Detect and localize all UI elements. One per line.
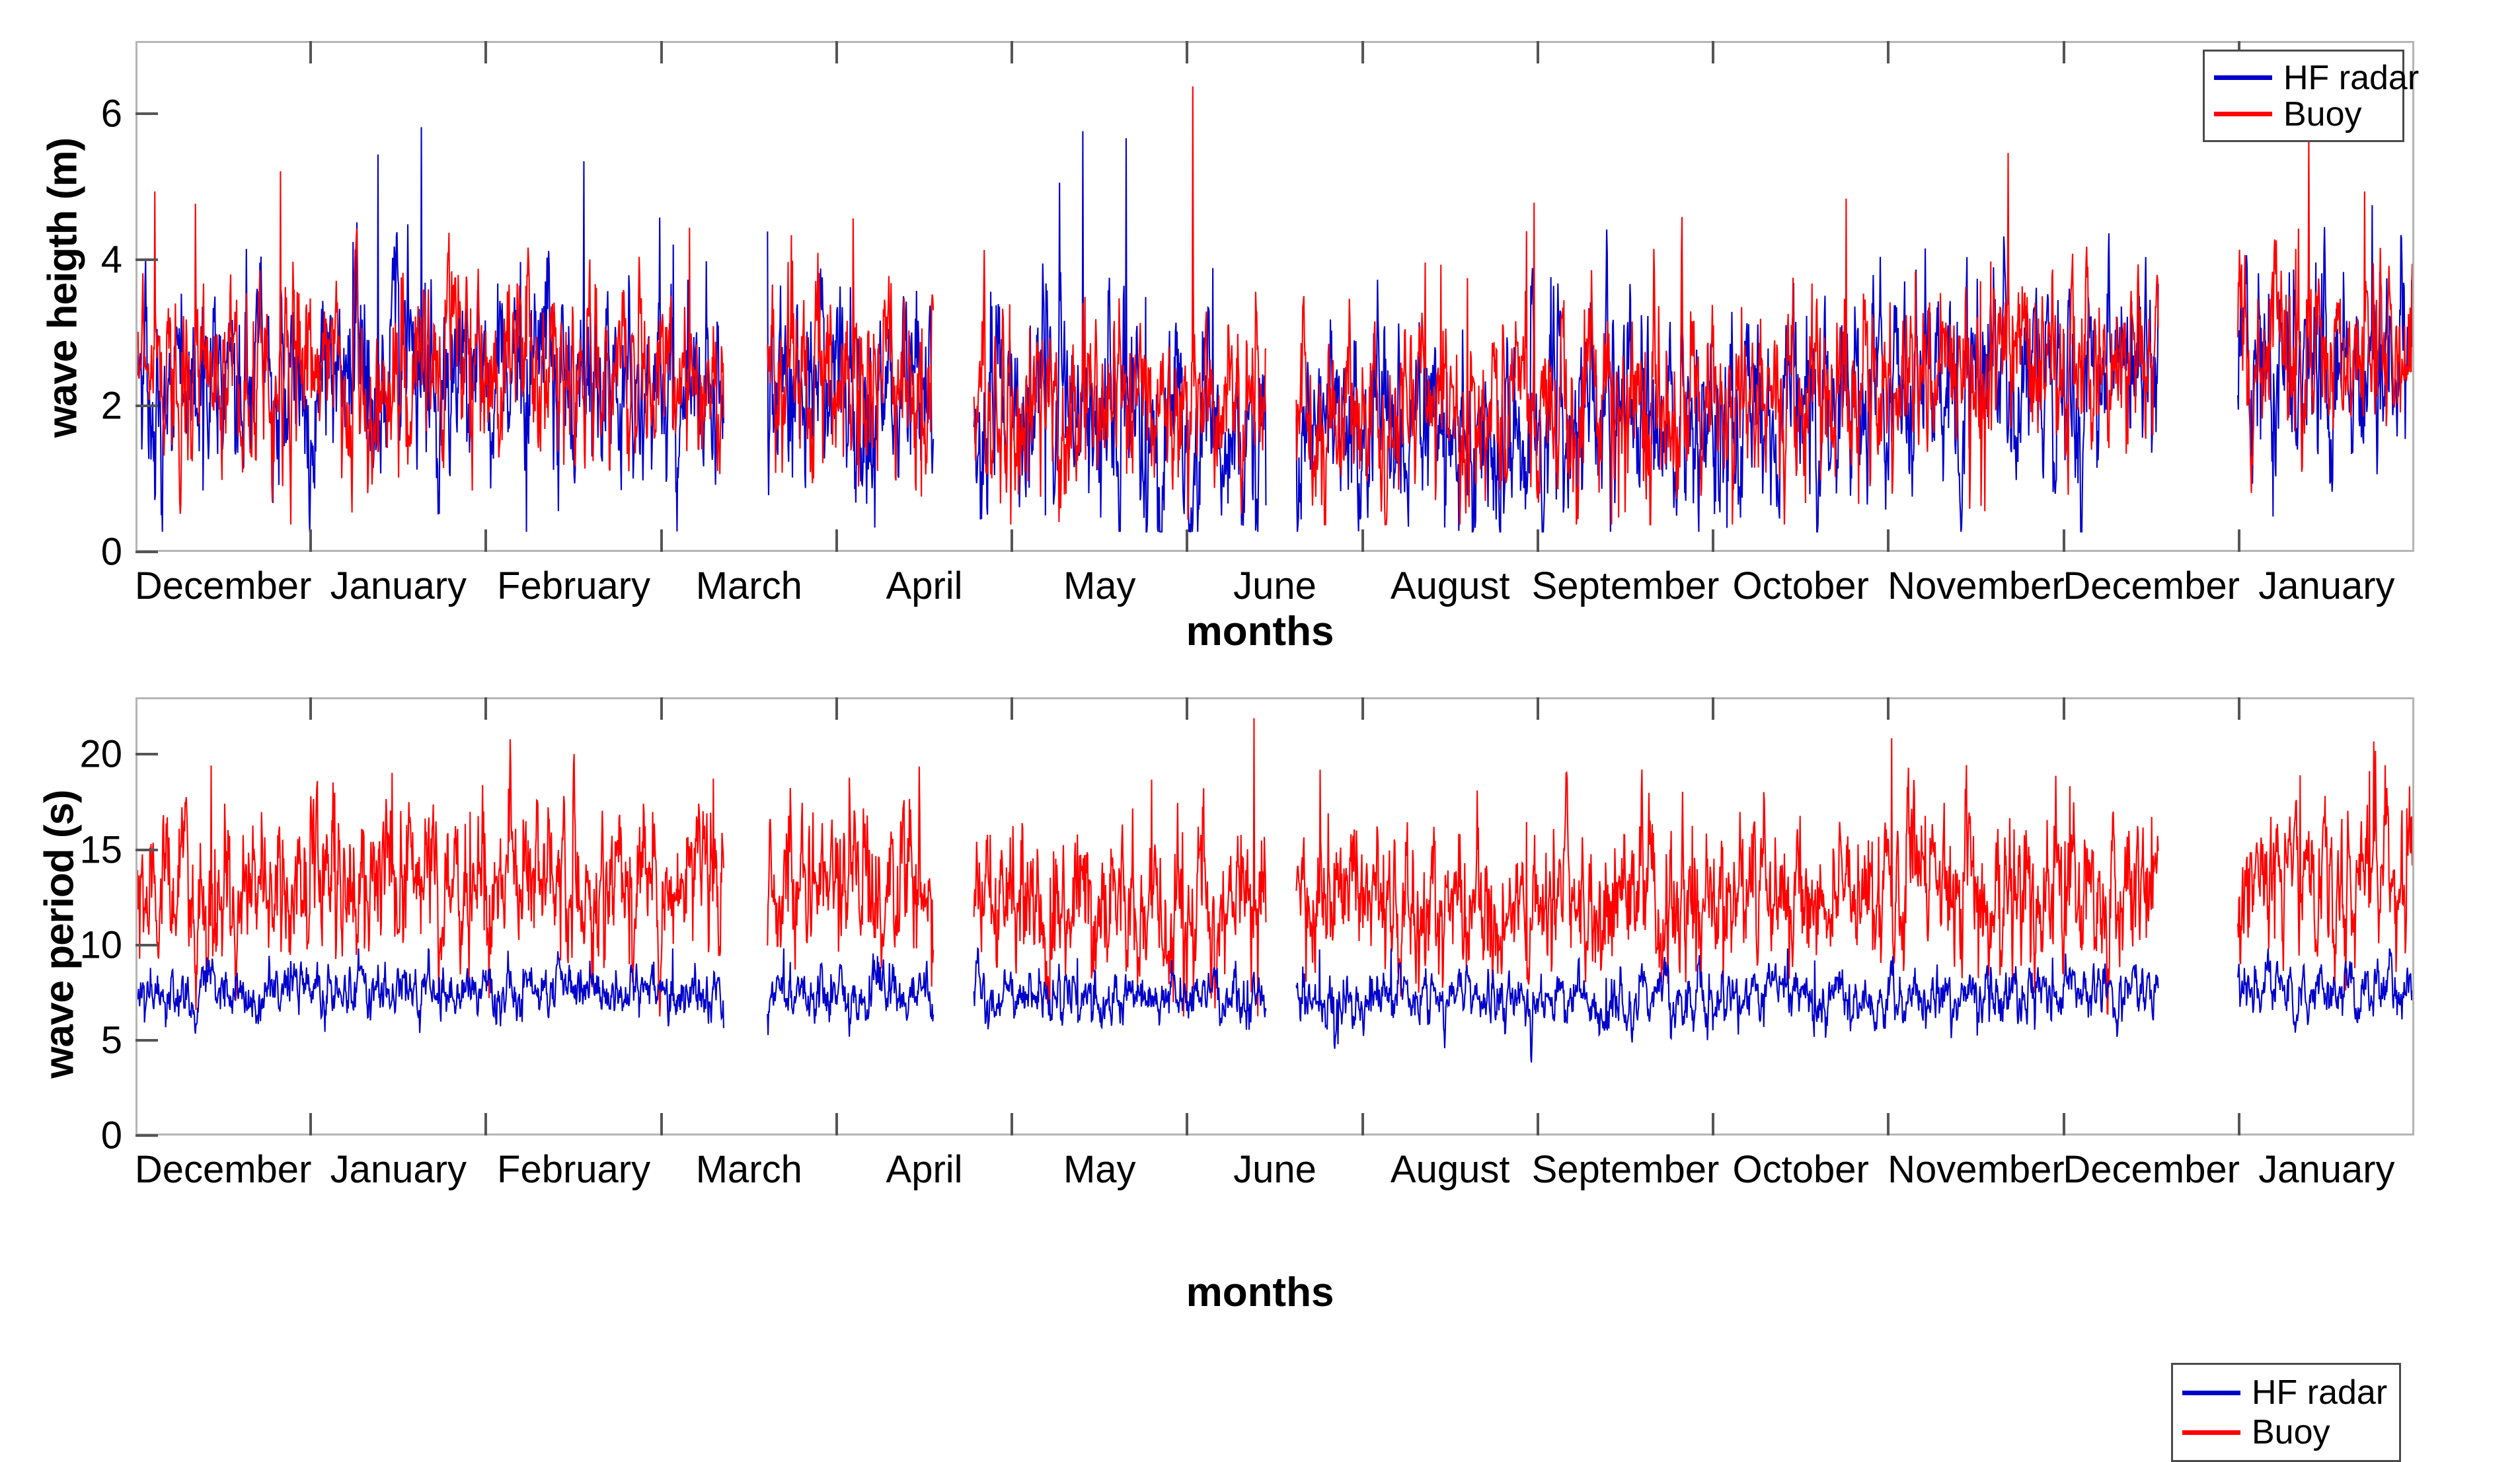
x-tick-label: January bbox=[330, 564, 467, 608]
x-tick-mark bbox=[1186, 1113, 1188, 1135]
figure-canvas: wave heigth (m) (a) 0246 DecemberJanuary… bbox=[0, 0, 2520, 1347]
y-tick-mark bbox=[135, 404, 158, 407]
x-tick-mark bbox=[835, 1113, 838, 1135]
y-tick-label: 5 bbox=[23, 1018, 122, 1062]
y-tick-mark bbox=[135, 849, 158, 851]
y-tick-mark bbox=[135, 944, 158, 946]
x-tick-label: October bbox=[1733, 564, 1869, 608]
y-tick-mark bbox=[135, 1134, 158, 1137]
legend-row-buoy: Buoy bbox=[2214, 96, 2388, 132]
x-tick-label: January bbox=[2258, 1147, 2394, 1192]
x-tick-label: June bbox=[1233, 1147, 1317, 1192]
x-tick-label: May bbox=[1063, 1147, 1136, 1192]
legend-panel-a: HF radar Buoy bbox=[2203, 50, 2404, 142]
x-tick-mark-top bbox=[1537, 697, 1539, 720]
legend-label-hf-radar: HF radar bbox=[2252, 1375, 2387, 1410]
x-tick-mark-top bbox=[1712, 697, 1714, 720]
legend-row-hf-radar: HF radar bbox=[2182, 1373, 2385, 1412]
x-tick-mark bbox=[2063, 529, 2065, 552]
x-tick-mark-top bbox=[2063, 697, 2065, 720]
x-tick-mark bbox=[1011, 529, 1013, 552]
x-tick-mark bbox=[1011, 1113, 1013, 1135]
y-tick-mark bbox=[135, 1039, 158, 1042]
legend-row-buoy: Buoy bbox=[2182, 1412, 2385, 1452]
legend-swatch-buoy bbox=[2182, 1430, 2240, 1435]
x-tick-mark-top bbox=[835, 697, 838, 720]
x-tick-mark bbox=[1712, 1113, 1714, 1135]
x-tick-label: August bbox=[1391, 564, 1510, 608]
plot-area-wave-height bbox=[135, 41, 2414, 552]
x-tick-label: October bbox=[1733, 1147, 1869, 1192]
x-tick-label: January bbox=[330, 1147, 467, 1192]
x-tick-mark-top bbox=[1887, 41, 1890, 63]
legend-swatch-buoy bbox=[2214, 112, 2272, 116]
y-tick-label: 15 bbox=[23, 827, 122, 872]
x-tick-label: December bbox=[135, 564, 312, 608]
wave-period-series-canvas bbox=[137, 699, 2412, 1134]
legend-swatch-hf-radar bbox=[2214, 75, 2272, 80]
y-tick-label: 20 bbox=[23, 732, 122, 777]
x-tick-mark-top bbox=[1537, 41, 1539, 63]
x-tick-mark bbox=[660, 1113, 663, 1135]
panel-wave-height: wave heigth (m) (a) 0246 DecemberJanuary… bbox=[0, 0, 2520, 661]
y-tick-label: 0 bbox=[23, 1114, 122, 1158]
x-tick-label: March bbox=[696, 1147, 802, 1192]
x-tick-mark-top bbox=[660, 41, 663, 63]
x-tick-mark-top bbox=[484, 697, 487, 720]
y-tick-label: 0 bbox=[23, 530, 122, 574]
x-tick-mark-top bbox=[1887, 697, 1890, 720]
x-tick-mark bbox=[660, 529, 663, 552]
x-tick-mark bbox=[484, 529, 487, 552]
x-tick-label: April bbox=[886, 1147, 963, 1192]
x-tick-mark bbox=[2238, 529, 2240, 552]
x-tick-mark-top bbox=[1011, 41, 1013, 63]
x-tick-mark bbox=[2238, 1113, 2240, 1135]
x-tick-mark-top bbox=[2063, 41, 2065, 63]
x-tick-label: December bbox=[2063, 564, 2240, 608]
x-tick-mark bbox=[1712, 529, 1714, 552]
x-tick-mark-top bbox=[484, 41, 487, 63]
x-tick-mark-top bbox=[660, 697, 663, 720]
x-tick-mark bbox=[484, 1113, 487, 1135]
data-series-path bbox=[137, 948, 2412, 1063]
x-tick-mark-top bbox=[309, 697, 312, 720]
x-tick-mark bbox=[309, 1113, 312, 1135]
x-tick-mark-top bbox=[835, 41, 838, 63]
x-tick-mark bbox=[2063, 1113, 2065, 1135]
y-tick-mark bbox=[135, 551, 158, 553]
legend-label-buoy: Buoy bbox=[2252, 1415, 2330, 1449]
x-tick-mark-top bbox=[1186, 697, 1188, 720]
x-tick-mark bbox=[1361, 1113, 1364, 1135]
y-tick-label: 4 bbox=[23, 238, 122, 282]
y-tick-label: 10 bbox=[23, 923, 122, 967]
x-tick-mark-top bbox=[1712, 41, 1714, 63]
x-tick-mark-top bbox=[309, 41, 312, 63]
y-tick-label: 6 bbox=[23, 92, 122, 136]
x-tick-label: August bbox=[1391, 1147, 1510, 1192]
x-axis-title-panel-b: months bbox=[0, 1269, 2520, 1316]
y-tick-label: 2 bbox=[23, 384, 122, 428]
x-tick-label: November bbox=[1888, 1147, 2065, 1192]
data-series-path bbox=[137, 718, 2412, 1017]
legend-panel-b: HF radar Buoy bbox=[2171, 1363, 2401, 1462]
x-tick-mark bbox=[1186, 529, 1188, 552]
x-tick-mark bbox=[1887, 1113, 1890, 1135]
x-tick-label: December bbox=[135, 1147, 312, 1192]
legend-row-hf-radar: HF radar bbox=[2214, 59, 2388, 96]
x-tick-label: September bbox=[1532, 564, 1720, 608]
x-tick-label: February bbox=[497, 564, 650, 608]
x-tick-mark-top bbox=[1361, 41, 1364, 63]
y-tick-mark bbox=[135, 112, 158, 115]
x-tick-label: January bbox=[2258, 564, 2394, 608]
data-series-path bbox=[137, 87, 2412, 525]
x-tick-mark-top bbox=[1011, 697, 1013, 720]
x-tick-label: November bbox=[1888, 564, 2065, 608]
x-axis-title-panel-a: months bbox=[0, 608, 2520, 655]
x-tick-mark bbox=[835, 529, 838, 552]
x-tick-label: June bbox=[1233, 564, 1317, 608]
y-tick-mark bbox=[135, 258, 158, 261]
x-tick-mark bbox=[1361, 529, 1364, 552]
x-tick-label: April bbox=[886, 564, 963, 608]
legend-label-hf-radar: HF radar bbox=[2283, 61, 2419, 95]
x-tick-mark bbox=[1537, 1113, 1539, 1135]
x-tick-mark bbox=[1887, 529, 1890, 552]
wave-height-series-canvas bbox=[137, 43, 2412, 550]
x-tick-mark-top bbox=[1361, 697, 1364, 720]
panel-wave-period: wave period (s) (b) 05101520 DecemberJan… bbox=[0, 661, 2520, 1347]
x-tick-mark bbox=[309, 529, 312, 552]
x-tick-label: December bbox=[2063, 1147, 2240, 1192]
x-tick-label: February bbox=[497, 1147, 650, 1192]
plot-area-wave-period bbox=[135, 697, 2414, 1135]
x-tick-mark-top bbox=[1186, 41, 1188, 63]
x-tick-label: May bbox=[1063, 564, 1136, 608]
x-tick-label: September bbox=[1532, 1147, 1720, 1192]
legend-label-buoy: Buoy bbox=[2283, 97, 2362, 132]
x-tick-mark-top bbox=[2238, 697, 2240, 720]
legend-swatch-hf-radar bbox=[2182, 1391, 2240, 1395]
x-tick-label: March bbox=[696, 564, 802, 608]
y-tick-mark bbox=[135, 753, 158, 755]
x-tick-mark bbox=[1537, 529, 1539, 552]
